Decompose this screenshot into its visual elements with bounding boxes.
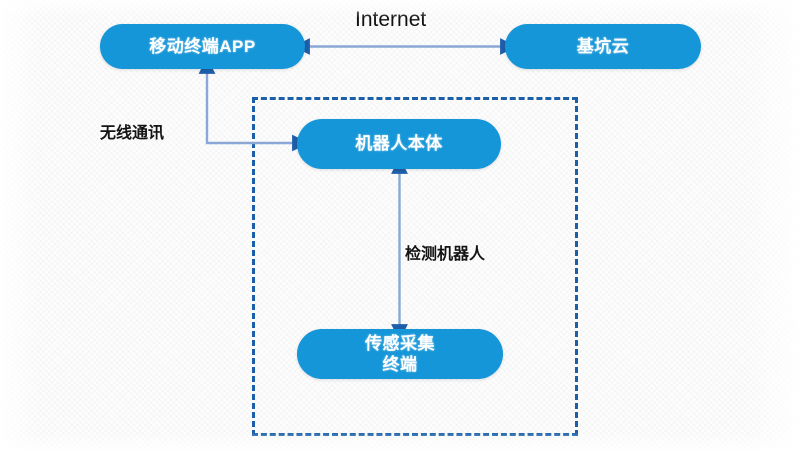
edge-label-internet: Internet bbox=[355, 8, 426, 32]
node-mobile-terminal-app-label: 移动终端APP bbox=[149, 36, 255, 57]
node-robot-body-label: 机器人本体 bbox=[355, 133, 443, 154]
edge-label-wireless-communication: 无线通讯 bbox=[100, 119, 164, 143]
node-robot-body[interactable]: 机器人本体 bbox=[297, 119, 501, 169]
system-architecture-diagram: 移动终端APP 基坑云 机器人本体 传感采集 终端 Internet 无线通讯 … bbox=[0, 0, 800, 450]
edge-label-detection-robot: 检测机器人 bbox=[405, 240, 485, 264]
node-foundation-pit-cloud[interactable]: 基坑云 bbox=[505, 24, 701, 69]
node-sensor-acquisition-terminal-label: 传感采集 终端 bbox=[365, 333, 435, 376]
connector-app-to-robot bbox=[207, 72, 294, 143]
node-foundation-pit-cloud-label: 基坑云 bbox=[577, 36, 630, 57]
node-mobile-terminal-app[interactable]: 移动终端APP bbox=[100, 24, 305, 69]
node-sensor-acquisition-terminal[interactable]: 传感采集 终端 bbox=[297, 329, 503, 379]
